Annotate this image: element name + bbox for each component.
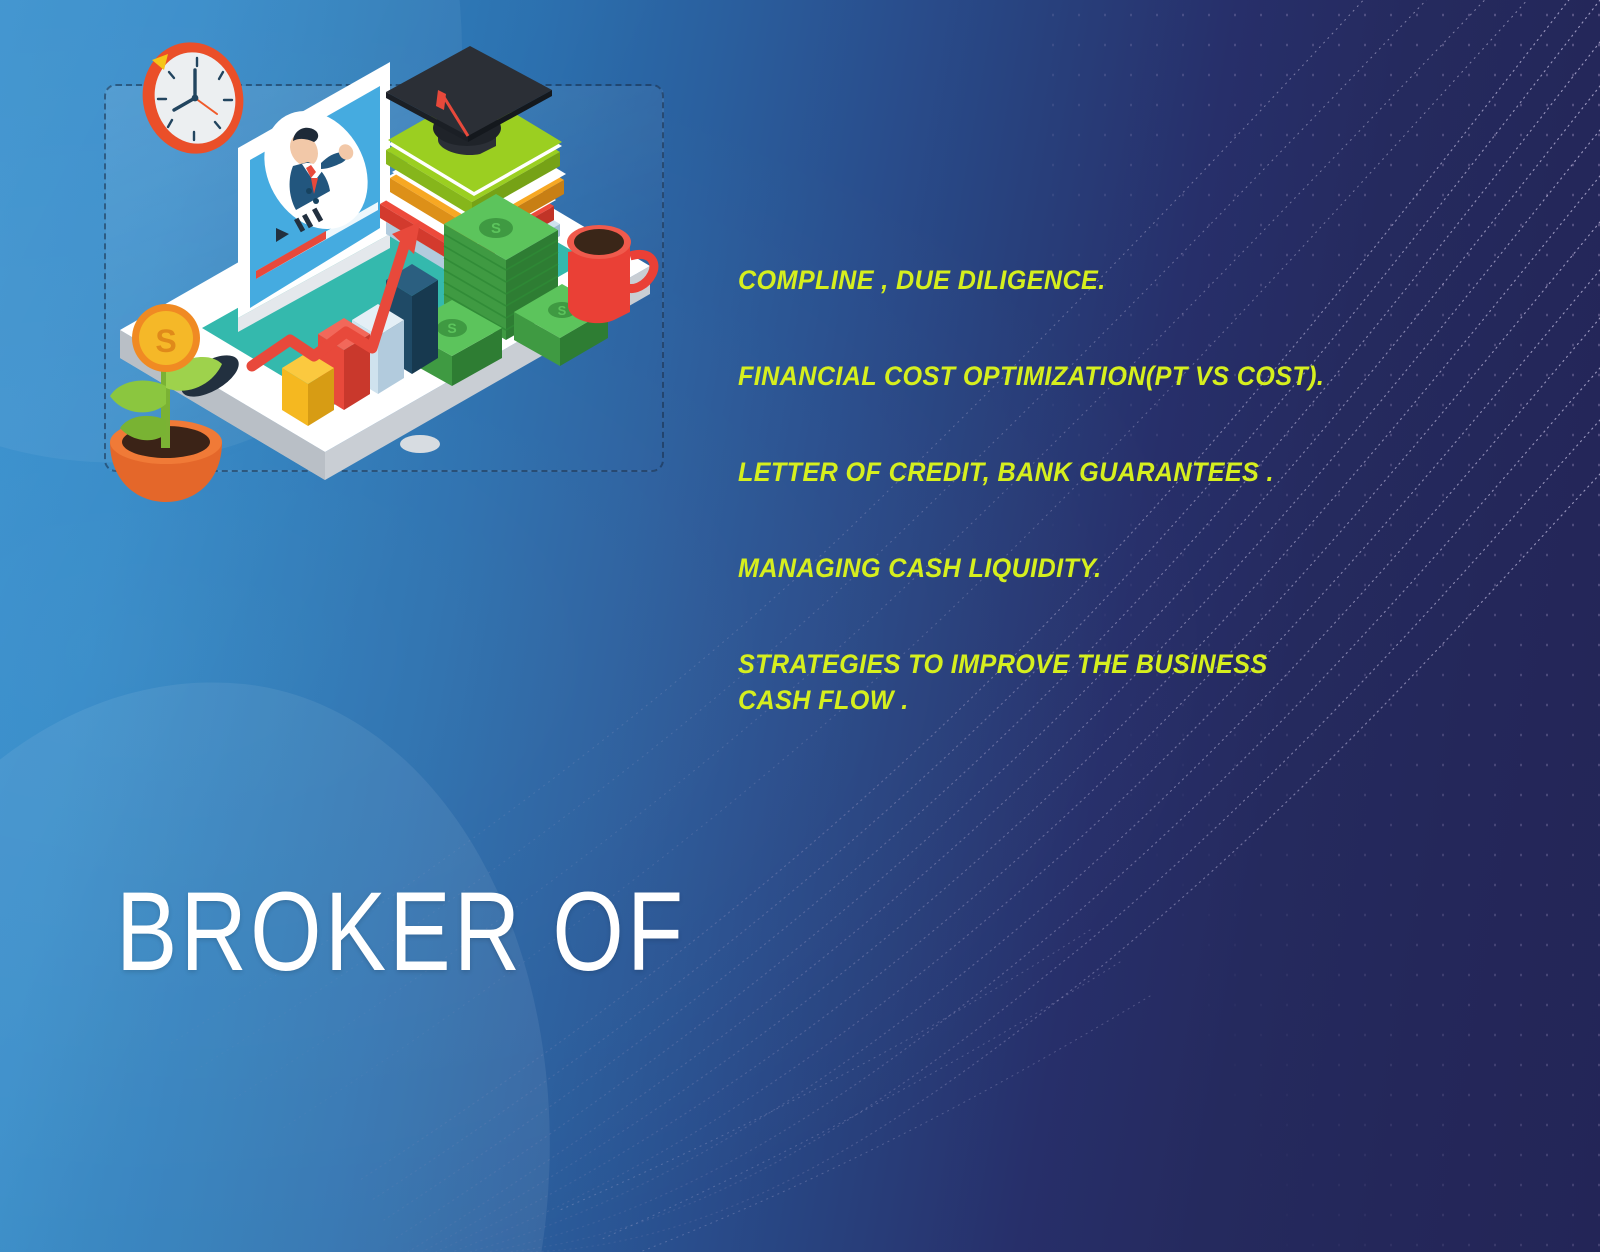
bullet-item-2: FINANCIAL COST OPTIMIZATION(PT VS COST). — [738, 358, 1422, 394]
wall-clock — [131, 32, 255, 165]
financial-training-illustration: S S S — [90, 28, 690, 508]
bullet-item-3: LETTER OF CREDIT, BANK GUARANTEES . — [738, 454, 1422, 490]
svg-text:S: S — [447, 320, 456, 336]
svg-text:S: S — [155, 323, 176, 359]
svg-text:S: S — [491, 220, 501, 237]
bullet-item-5: STRATEGIES TO IMPROVE THE BUSINESS CASH … — [738, 646, 1422, 718]
bullet-item-4: MANAGING CASH LIQUIDITY. — [738, 550, 1422, 586]
slide-canvas: S S S — [0, 0, 1600, 1252]
bullet-list: COMPLINE , DUE DILIGENCE. FINANCIAL COST… — [738, 262, 1458, 718]
illustration-svg: S S S — [90, 28, 690, 508]
headline-line-1: BROKER OF — [116, 862, 985, 1002]
bullet-item-1: COMPLINE , DUE DILIGENCE. — [738, 262, 1422, 298]
svg-text:S: S — [558, 303, 567, 318]
